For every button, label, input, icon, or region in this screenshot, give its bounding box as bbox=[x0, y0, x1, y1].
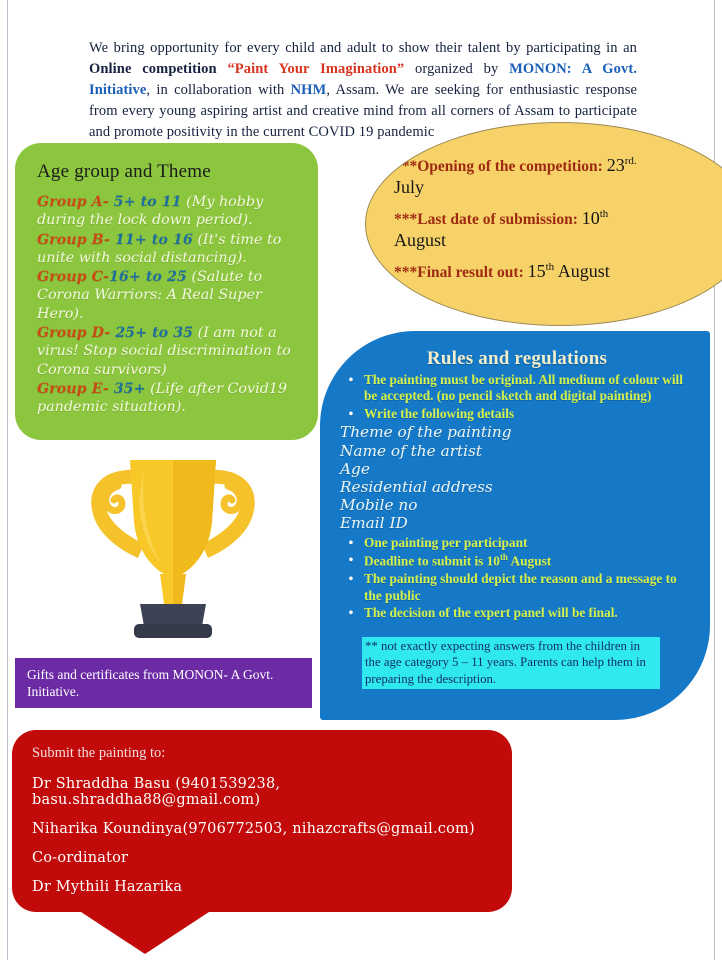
contact-line: Co-ordinator bbox=[32, 850, 494, 866]
contact-line: Dr Mythili Hazarika bbox=[32, 879, 494, 895]
deadline-month: August bbox=[508, 554, 551, 569]
required-field: Age bbox=[340, 460, 696, 478]
intro-text-part3: , in collaboration with bbox=[146, 82, 290, 98]
group-d-age: 25+ to 35 bbox=[110, 325, 193, 341]
result-date-row: ***Final result out: 15th August bbox=[394, 261, 694, 283]
age-group-row: Group B- 11+ to 16 (It's time to unite w… bbox=[37, 231, 298, 268]
rules-title: Rules and regulations bbox=[338, 348, 696, 370]
bullet-icon: • bbox=[338, 552, 364, 570]
bullet-icon: • bbox=[338, 605, 364, 621]
intro-nhm: NHM bbox=[291, 82, 327, 98]
group-c-age: 16+ to 25 bbox=[109, 269, 187, 285]
key-dates-content: ***Opening of the competition: 23rd. Jul… bbox=[394, 155, 694, 292]
page-frame-left-line bbox=[7, 0, 8, 960]
submit-bubble-content: Submit the painting to: Dr Shraddha Basu… bbox=[12, 730, 512, 912]
rule-item-text: Write the following details bbox=[364, 406, 696, 422]
rule-item: • Write the following details bbox=[338, 406, 696, 422]
group-a-name: Group A- bbox=[37, 194, 109, 210]
rule-item: • One painting per participant bbox=[338, 535, 696, 551]
age-group-row: Group A- 5+ to 11 (My hobby during the l… bbox=[37, 193, 298, 230]
age-group-title: Age group and Theme bbox=[37, 161, 298, 183]
opening-date-label: ***Opening of the competition: bbox=[394, 158, 603, 175]
rule-item-text: One painting per participant bbox=[364, 535, 696, 551]
opening-date-suffix: rd. bbox=[625, 155, 637, 167]
result-date-month: August bbox=[554, 261, 610, 281]
intro-online-competition: Online competition bbox=[89, 61, 217, 77]
last-date-label: ***Last date of submission: bbox=[394, 211, 578, 228]
trophy-icon bbox=[78, 448, 268, 646]
group-b-name: Group B- bbox=[37, 232, 110, 248]
intro-space-1 bbox=[217, 61, 228, 77]
required-field: Mobile no bbox=[340, 496, 696, 514]
intro-text-part2: organized by bbox=[404, 61, 509, 77]
rule-item: • The painting must be original. All med… bbox=[338, 372, 696, 405]
opening-date-day-number: 23 bbox=[607, 155, 625, 175]
rule-item: • The decision of the expert panel will … bbox=[338, 605, 696, 621]
last-date-row: ***Last date of submission: 10th August bbox=[394, 208, 694, 252]
result-date-label: ***Final result out: bbox=[394, 264, 524, 281]
required-field: Theme of the painting bbox=[340, 423, 696, 441]
age-group-row: Group D- 25+ to 35 (I am not a virus! St… bbox=[37, 324, 298, 379]
result-date-day-number: 15 bbox=[528, 261, 546, 281]
group-e-age: 35+ bbox=[109, 381, 146, 397]
group-a-age: 5+ to 11 bbox=[109, 194, 182, 210]
age-group-card: Age group and Theme Group A- 5+ to 11 (M… bbox=[15, 143, 318, 440]
deadline-text: Deadline to submit is 10 bbox=[364, 554, 500, 569]
last-date-day-number: 10 bbox=[582, 208, 600, 228]
rule-item-text: The painting should depict the reason an… bbox=[364, 571, 696, 604]
required-field: Email ID bbox=[340, 514, 696, 532]
bullet-icon: • bbox=[338, 372, 364, 405]
opening-date-row: ***Opening of the competition: 23rd. Jul… bbox=[394, 155, 694, 199]
gifts-bar: Gifts and certificates from MONON- A Gov… bbox=[15, 658, 312, 708]
submit-heading: Submit the painting to: bbox=[32, 745, 494, 762]
bullet-icon: • bbox=[338, 571, 364, 604]
contact-line: Dr Shraddha Basu (9401539238, basu.shrad… bbox=[32, 776, 494, 808]
rule-item-text: Deadline to submit is 10th August bbox=[364, 552, 696, 570]
key-dates-oval: ***Opening of the competition: 23rd. Jul… bbox=[365, 122, 722, 326]
group-b-age: 11+ to 16 bbox=[110, 232, 193, 248]
opening-date-day: 23rd. bbox=[607, 155, 637, 175]
parents-note: ** not exactly expecting answers from th… bbox=[362, 637, 660, 690]
bullet-icon: • bbox=[338, 406, 364, 422]
intro-campaign-title: “Paint Your Imagination” bbox=[227, 61, 404, 77]
submit-bubble-tail bbox=[78, 910, 212, 954]
group-e-name: Group E- bbox=[37, 381, 109, 397]
result-date-day: 15th August bbox=[528, 261, 610, 281]
age-group-row: Group C-16+ to 25 (Salute to Corona Warr… bbox=[37, 268, 298, 323]
page-frame-right-line bbox=[714, 0, 715, 960]
intro-text-part1: We bring opportunity for every child and… bbox=[89, 40, 637, 56]
age-group-row: Group E- 35+ (Life after Covid19 pandemi… bbox=[37, 380, 298, 417]
result-date-suffix: th bbox=[546, 261, 555, 273]
rule-item: • Deadline to submit is 10th August bbox=[338, 552, 696, 570]
last-date-day: 10th bbox=[582, 208, 609, 228]
gifts-text: Gifts and certificates from MONON- A Gov… bbox=[27, 666, 300, 700]
rule-item-text: The decision of the expert panel will be… bbox=[364, 605, 696, 621]
rule-item-text: The painting must be original. All mediu… bbox=[364, 372, 696, 405]
bullet-icon: • bbox=[338, 535, 364, 551]
poster-page: We bring opportunity for every child and… bbox=[0, 0, 722, 960]
required-field: Residential address bbox=[340, 478, 696, 496]
deadline-suffix: th bbox=[500, 552, 508, 562]
group-c-name: Group C- bbox=[37, 269, 109, 285]
group-d-name: Group D- bbox=[37, 325, 110, 341]
last-date-suffix: th bbox=[600, 208, 609, 220]
contact-line: Niharika Koundinya(9706772503, nihazcraf… bbox=[32, 821, 494, 837]
required-field: Name of the artist bbox=[340, 442, 696, 460]
last-date-month: August bbox=[394, 230, 694, 252]
opening-date-month: July bbox=[394, 177, 694, 199]
rule-item: • The painting should depict the reason … bbox=[338, 571, 696, 604]
rules-panel: Rules and regulations • The painting mus… bbox=[320, 331, 710, 720]
